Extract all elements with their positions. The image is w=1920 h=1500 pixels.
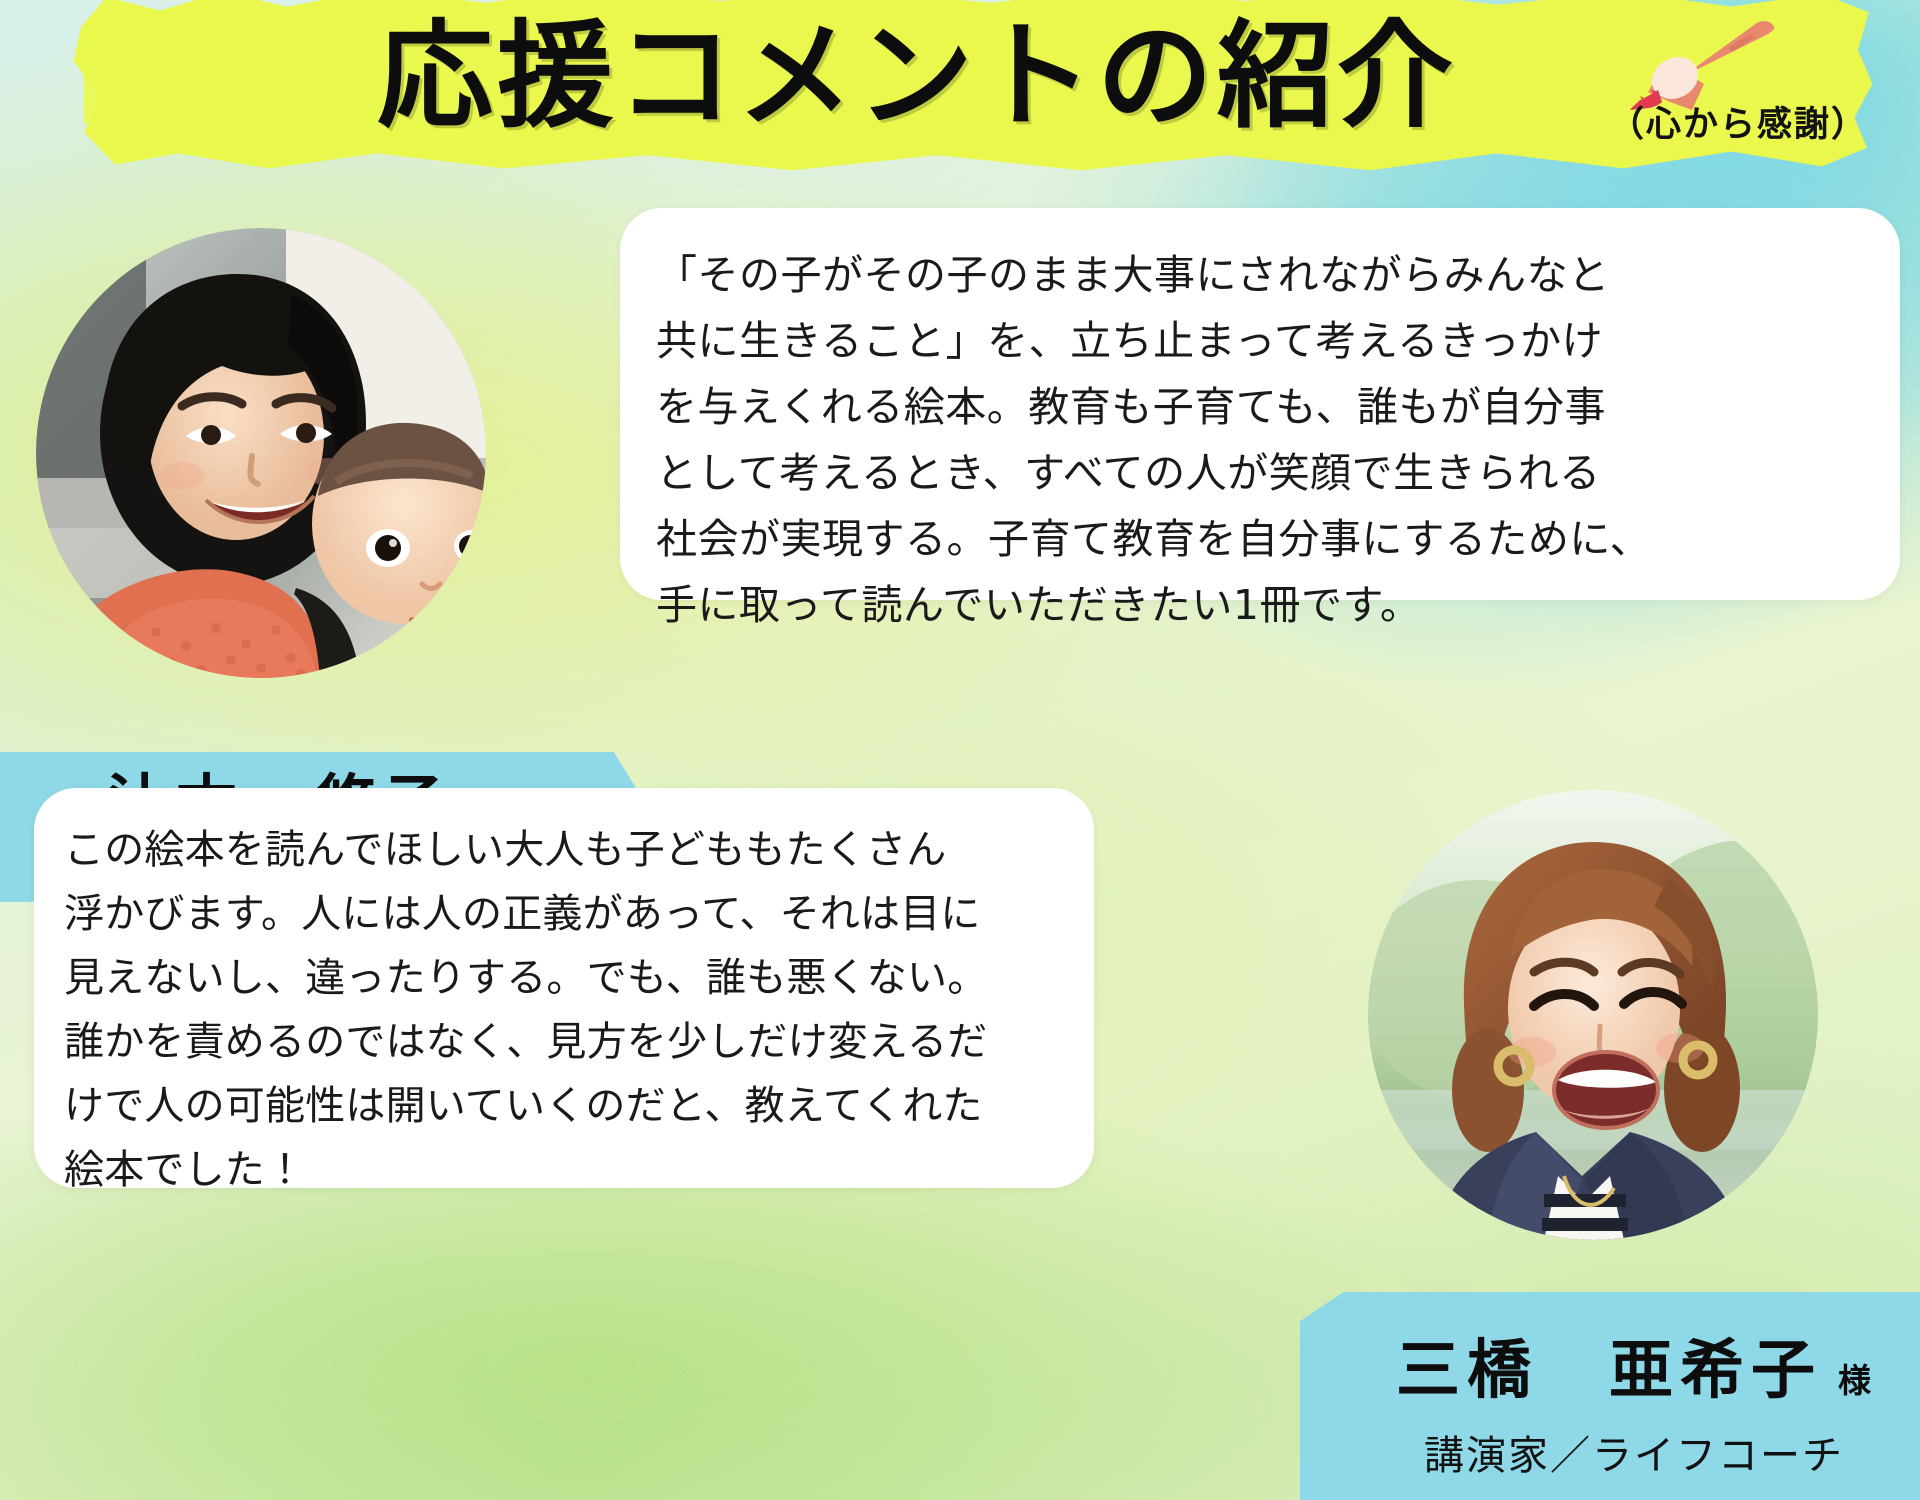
quote-line: を与えくれる絵本。教育も子育ても、誰もが自分事 bbox=[656, 374, 1860, 440]
header-subtitle: （心から感謝） bbox=[1609, 96, 1868, 147]
quote-line: 「その子がその子のまま大事にされながらみんなと bbox=[656, 242, 1860, 308]
portrait-mitsuhashi-akiko bbox=[1368, 790, 1818, 1240]
quote-line: 浮かびます。人には人の正義があって、それは目に bbox=[64, 882, 1060, 946]
portrait-tsujimoto-yuko bbox=[36, 228, 486, 678]
quote-line: 絵本でした！ bbox=[64, 1138, 1060, 1202]
testimonial-2-name-banner: 三橋 亜希子 様 講演家／ライフコーチ bbox=[1300, 1292, 1920, 1500]
quote-line: 見えないし、違ったりする。でも、誰も悪くない。 bbox=[64, 946, 1060, 1010]
header-banner: 応援コメントの紹介 （心から感謝） bbox=[0, 0, 1920, 175]
quote-line: この絵本を読んでほしい大人も子どももたくさん bbox=[64, 818, 1060, 882]
quote-line: 手に取って読んでいただきたい1冊です。 bbox=[656, 572, 1860, 638]
quote-line: として考えるとき、すべての人が笑顔で生きられる bbox=[656, 440, 1860, 506]
quote-line: 誰かを責めるのではなく、見方を少しだけ変えるだ bbox=[64, 1010, 1060, 1074]
quote-line: けで人の可能性は開いていくのだと、教えてくれた bbox=[64, 1074, 1060, 1138]
testimonial-1-quote-bubble: 「その子がその子のまま大事にされながらみんなと 共に生きること」を、立ち止まって… bbox=[620, 208, 1900, 600]
page-root: 応援コメントの紹介 （心から感謝） bbox=[0, 0, 1920, 1500]
person-name: 三橋 亜希子 bbox=[1396, 1319, 1822, 1411]
person-role: 講演家／ライフコーチ bbox=[1424, 1423, 1844, 1481]
name-honorific: 様 bbox=[1838, 1354, 1872, 1402]
quote-line: 社会が実現する。子育て教育を自分事にするために、 bbox=[656, 506, 1860, 572]
name-line: 三橋 亜希子 様 bbox=[1396, 1319, 1872, 1411]
testimonial-2-quote-bubble: この絵本を読んでほしい大人も子どももたくさん 浮かびます。人には人の正義があって… bbox=[34, 788, 1094, 1188]
quote-line: 共に生きること」を、立ち止まって考えるきっかけ bbox=[656, 308, 1860, 374]
